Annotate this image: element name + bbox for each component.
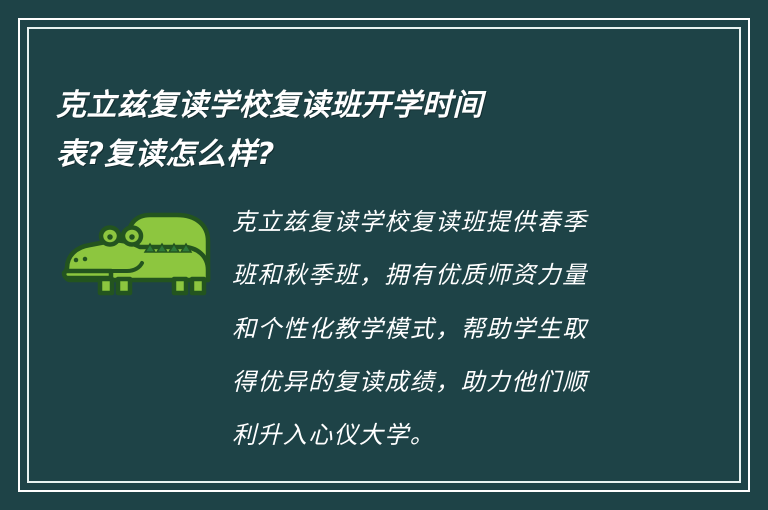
crocodile-nostril-right bbox=[83, 257, 88, 262]
article-body: 克立兹复读学校复读班提供春季 班和秋季班，拥有优质师资力量 和个性化教学模式，帮… bbox=[232, 196, 712, 462]
page-title-line-2: 表?复读怎么样? bbox=[56, 131, 696, 180]
page-title-line-1: 克立兹复读学校复读班开学时间 bbox=[56, 82, 696, 131]
article-body-line-4: 得优异的复读成绩，助力他们顺 bbox=[232, 356, 712, 409]
crocodile-eye-left bbox=[107, 234, 113, 240]
content-area: 克立兹复读学校复读班提供春季 班和秋季班，拥有优质师资力量 和个性化教学模式，帮… bbox=[52, 196, 712, 462]
article-card: 克立兹复读学校复读班开学时间 表?复读怎么样? bbox=[0, 0, 768, 510]
article-body-line-2: 班和秋季班，拥有优质师资力量 bbox=[232, 249, 712, 302]
crocodile-nostril-left bbox=[74, 258, 79, 263]
page-title: 克立兹复读学校复读班开学时间 表?复读怎么样? bbox=[56, 82, 696, 179]
article-body-line-5: 利升入心仪大学。 bbox=[232, 409, 712, 462]
article-body-line-3: 和个性化教学模式，帮助学生取 bbox=[232, 303, 712, 356]
crocodile-eye-right bbox=[129, 234, 135, 240]
crocodile-icon bbox=[52, 204, 217, 309]
article-body-line-1: 克立兹复读学校复读班提供春季 bbox=[232, 196, 712, 249]
